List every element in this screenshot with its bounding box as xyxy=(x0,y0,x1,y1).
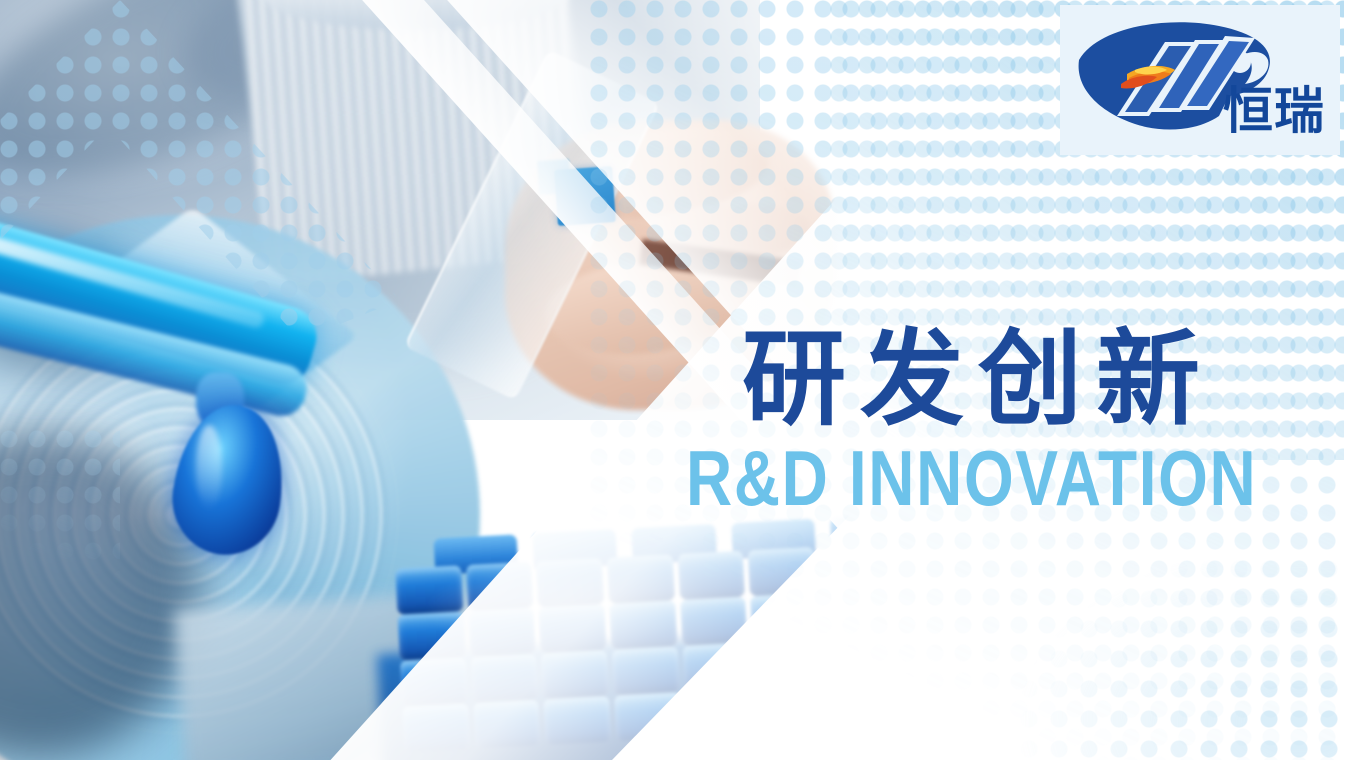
rd-innovation-banner: 研发创新 R&D INNOVATION xyxy=(0,0,1350,760)
droplet-highlight xyxy=(196,425,222,511)
test-tube-label xyxy=(554,166,616,226)
hengrui-wordmark: 恒瑞 xyxy=(1223,86,1325,136)
right-edge-gutter xyxy=(1344,0,1350,760)
hengrui-logo-panel[interactable]: 恒瑞 xyxy=(1060,5,1340,155)
headline-title-chinese: 研发创新 xyxy=(742,327,1350,431)
headline-title-english: R&D INNOVATION xyxy=(686,439,1232,517)
logo-wrap: 恒瑞 xyxy=(1069,20,1331,140)
headline-block: 研发创新 R&D INNOVATION xyxy=(742,327,1350,517)
